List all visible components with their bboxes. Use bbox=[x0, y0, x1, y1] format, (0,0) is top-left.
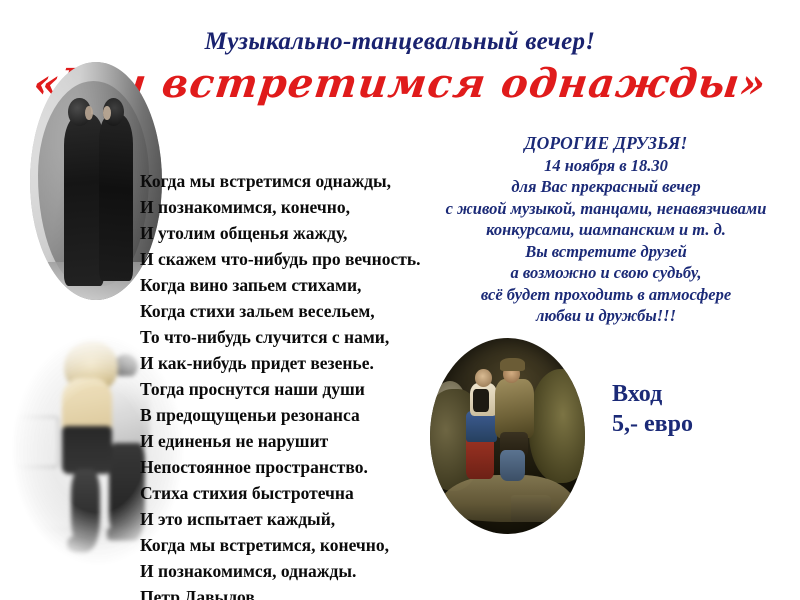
poster-canvas: Музыкально-танцевальный вечер! «Мы встре… bbox=[0, 0, 800, 600]
painting-foliage-right bbox=[529, 369, 585, 483]
announcement-line: всё будет проходить в атмосфере bbox=[412, 284, 800, 306]
painting-woman-red-skirt bbox=[466, 436, 494, 479]
poem-line: В предощущеньи резонанса bbox=[140, 402, 440, 428]
painting-woman-head bbox=[475, 369, 492, 387]
painting-path bbox=[439, 475, 575, 522]
announcement-block: ДОРОГИЕ ДРУЗЬЯ! 14 ноября в 18.30 для Ва… bbox=[412, 133, 800, 327]
poem-line: И утолим общенья жажду, bbox=[140, 220, 440, 246]
announcement-date-time: 14 ноября в 18.30 bbox=[412, 155, 800, 177]
announcement-line: а возможно и свою судьбу, bbox=[412, 262, 800, 284]
photo-woman-figure bbox=[99, 114, 133, 281]
announcement-line: любви и дружбы!!! bbox=[412, 305, 800, 327]
announcement-line: с живой музыкой, танцами, ненавязчивами bbox=[412, 198, 800, 220]
announcement-line: Вы встретите друзей bbox=[412, 241, 800, 263]
poem-line: Когда мы встретимся однажды, bbox=[140, 168, 440, 194]
poem-line: Тогда проснутся наши души bbox=[140, 376, 440, 402]
poem-line: Непостоянное пространство. bbox=[140, 454, 440, 480]
painting-stone bbox=[511, 495, 551, 522]
poem-line: То что-нибудь случится с нами, bbox=[140, 324, 440, 350]
poem-line: И единенья не нарушит bbox=[140, 428, 440, 454]
announcement-line: для Вас прекрасный вечер bbox=[412, 176, 800, 198]
poem-line: И это испытает каждый, bbox=[140, 506, 440, 532]
poster-title: Музыкально-танцевальный вечер! bbox=[0, 28, 800, 56]
poem-line: И скажем что-нибудь про вечность. bbox=[140, 246, 440, 272]
announcement-heading: ДОРОГИЕ ДРУЗЬЯ! bbox=[412, 133, 800, 155]
painting-man-stockings bbox=[500, 450, 525, 481]
entry-amount: 5,- евро bbox=[612, 409, 693, 439]
photo-woman-face bbox=[103, 106, 111, 120]
price-block: Вход 5,- евро bbox=[612, 379, 693, 439]
poem-line: И как-нибудь придет везенье. bbox=[140, 350, 440, 376]
poem-block: Когда мы встретимся однажды, И познакоми… bbox=[140, 168, 440, 600]
poem-line: Стиха стихия быстротечна bbox=[140, 480, 440, 506]
dancers-woman-heel bbox=[67, 536, 90, 553]
poem-line: И познакомимся, однажды. bbox=[140, 558, 440, 584]
entry-label: Вход bbox=[612, 379, 693, 409]
painting-woman-bodice bbox=[473, 389, 489, 413]
poem-author: Петр Давыдов bbox=[140, 584, 440, 600]
painting-man-coat bbox=[495, 379, 534, 438]
dancers-chair bbox=[15, 416, 59, 468]
photo-man-figure bbox=[64, 114, 104, 285]
photo-oil-painting bbox=[430, 338, 585, 534]
poem-line: И познакомимся, конечно, bbox=[140, 194, 440, 220]
dancers-woman-skirt bbox=[62, 426, 112, 474]
poem-line: Когда мы встретимся, конечно, bbox=[140, 532, 440, 558]
poem-line: Когда стихи зальем весельем, bbox=[140, 298, 440, 324]
painting-man-hat bbox=[500, 358, 525, 372]
poem-line: Когда вино запьем стихами, bbox=[140, 272, 440, 298]
announcement-line: конкурсами, шампанским и т. д. bbox=[412, 219, 800, 241]
dancers-man-shoe bbox=[107, 527, 139, 541]
